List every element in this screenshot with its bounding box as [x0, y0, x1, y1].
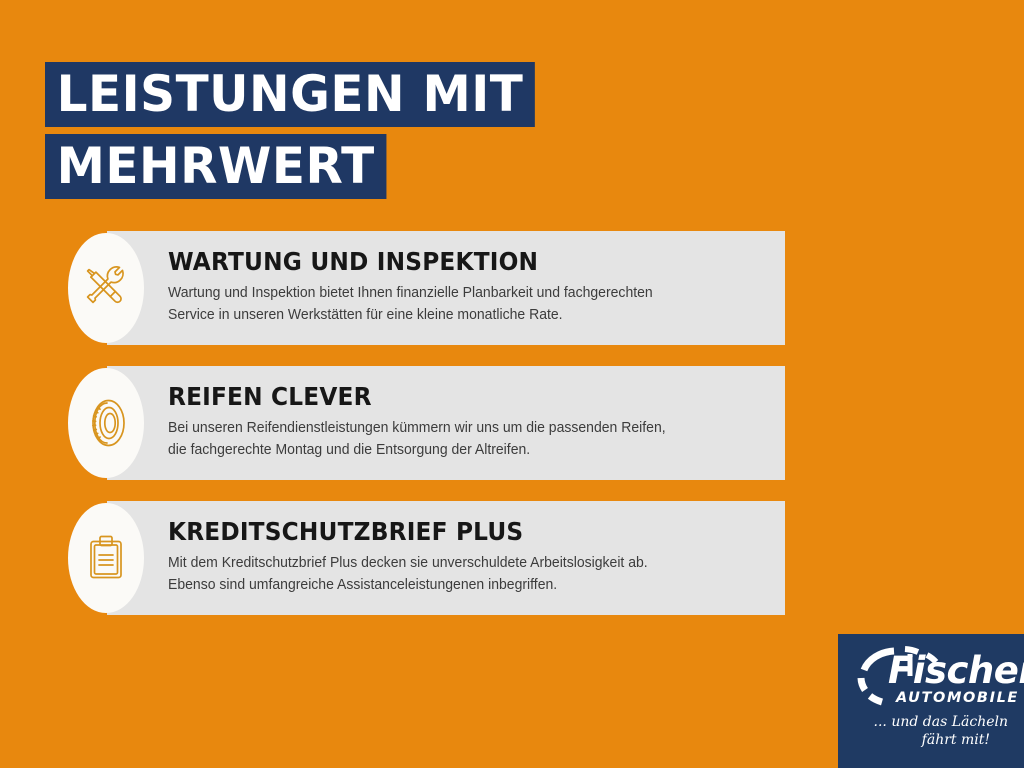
logo-wordmark: Fischer: [888, 652, 1024, 689]
card-icon-badge: [68, 368, 144, 478]
service-card-wartung-und-inspektion[interactable]: WARTUNG UND INSPEKTION Wartung und Inspe…: [0, 231, 1024, 345]
card-body: Bei unseren Reifendienstleistungen kümme…: [168, 418, 744, 462]
clipboard-icon: [79, 531, 133, 585]
slide-root: LEISTUNGEN MIT MEHRWERT: [0, 0, 1024, 768]
card-title: REIFEN CLEVER: [168, 384, 726, 410]
card-body: Wartung und Inspektion bietet Ihnen fina…: [168, 283, 744, 327]
brand-logo[interactable]: Fischer AUTOMOBILE ... und das Lächeln f…: [838, 634, 1024, 768]
headline-line-1: LEISTUNGEN MIT: [45, 62, 535, 127]
card-body: Mit dem Kreditschutzbrief Plus decken si…: [168, 553, 744, 597]
service-card-kreditschutzbrief-plus[interactable]: KREDITSCHUTZBRIEF PLUS Mit dem Kreditsch…: [0, 501, 1024, 615]
service-card-reifen-clever[interactable]: REIFEN CLEVER Bei unseren Reifendienstle…: [0, 366, 1024, 480]
wrench-screwdriver-icon: [78, 260, 134, 316]
logo-subtitle: AUTOMOBILE: [896, 691, 1019, 706]
card-text: WARTUNG UND INSPEKTION Wartung und Inspe…: [168, 249, 768, 327]
page-title: LEISTUNGEN MIT MEHRWERT: [45, 62, 550, 199]
card-icon-badge: [68, 233, 144, 343]
card-text: REIFEN CLEVER Bei unseren Reifendienstle…: [168, 384, 768, 462]
logo-claim-line-2: fährt mit!: [838, 732, 1012, 750]
logo-claim-line-1: ... und das Lächeln: [838, 714, 1012, 732]
headline-line-2: MEHRWERT: [45, 134, 386, 199]
tire-icon: [77, 394, 135, 452]
logo-claim: ... und das Lächeln fährt mit!: [838, 714, 1024, 750]
card-title: KREDITSCHUTZBRIEF PLUS: [168, 519, 726, 545]
card-icon-badge: [68, 503, 144, 613]
card-title: WARTUNG UND INSPEKTION: [168, 249, 726, 275]
card-text: KREDITSCHUTZBRIEF PLUS Mit dem Kreditsch…: [168, 519, 768, 597]
service-card-list: WARTUNG UND INSPEKTION Wartung und Inspe…: [0, 231, 1024, 636]
